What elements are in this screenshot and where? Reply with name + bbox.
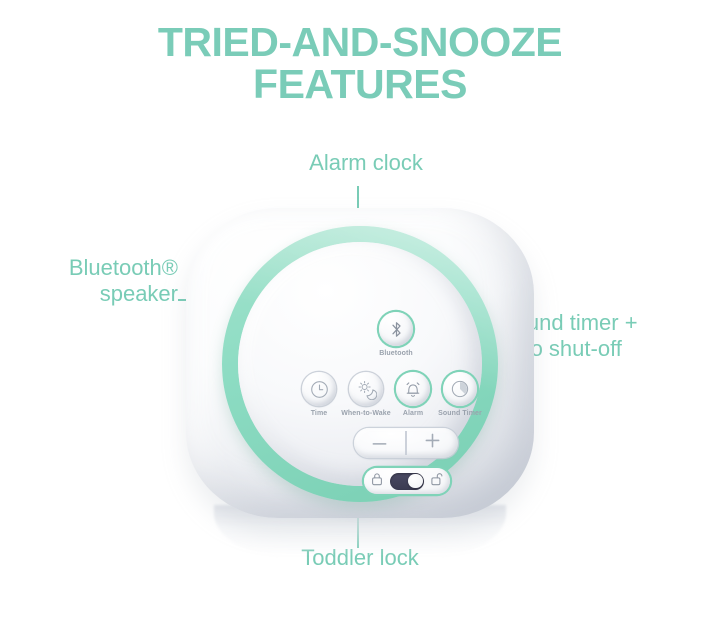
minus-icon — [372, 434, 387, 452]
padlock-closed-icon — [371, 472, 383, 491]
toddler-lock-knob[interactable] — [408, 474, 423, 489]
alarm-bell-icon — [404, 380, 422, 399]
timer-pie-icon — [450, 379, 470, 399]
callout-alarm-clock: Alarm clock — [231, 150, 501, 176]
infographic-canvas: TRIED-AND-SNOOZE FEATURES Alarm clock Bl… — [0, 0, 720, 622]
page-title: TRIED-AND-SNOOZE FEATURES — [0, 22, 720, 106]
bluetooth-button-label: Bluetooth — [356, 350, 436, 357]
plus-icon — [425, 433, 440, 453]
sun-moon-icon — [356, 379, 377, 400]
time-button[interactable] — [302, 372, 336, 406]
clock-icon — [310, 380, 329, 399]
page-title-line-1: TRIED-AND-SNOOZE — [0, 22, 720, 64]
toddler-lock-toggle[interactable] — [364, 468, 450, 494]
bluetooth-icon — [389, 321, 404, 338]
sound-timer-button[interactable] — [443, 372, 477, 406]
bluetooth-button[interactable] — [379, 312, 413, 346]
page-title-line-2: FEATURES — [0, 64, 720, 106]
volume-up-button[interactable] — [407, 428, 458, 458]
volume-control — [354, 428, 458, 458]
device-control-face: Bluetooth Time — [238, 242, 482, 486]
callout-bluetooth-speaker: Bluetooth® speaker — [8, 255, 178, 308]
sound-machine-device: Bluetooth Time — [186, 208, 534, 518]
alarm-button[interactable] — [396, 372, 430, 406]
toddler-lock-track[interactable] — [390, 473, 424, 490]
volume-down-button[interactable] — [354, 428, 405, 458]
when-to-wake-button[interactable] — [349, 372, 383, 406]
padlock-open-icon — [431, 472, 443, 491]
sound-timer-button-label: Sound Timer — [422, 410, 498, 417]
